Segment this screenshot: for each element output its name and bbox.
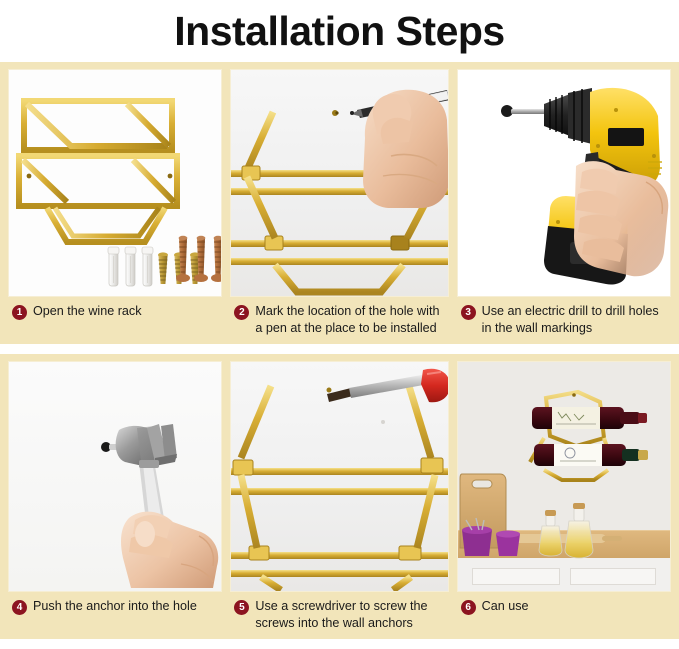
step-number-badge-1: 1 [12,305,27,320]
wine-bottle-top [532,407,647,429]
step-text-6: Can use [482,598,529,615]
marking-hole-with-pen-photo [230,69,448,297]
step-card-6: 6 Can use [457,361,671,639]
step-number-badge-4: 4 [12,600,27,615]
screwdriver-photo [230,361,448,592]
wine-rack-parts-photo [8,69,222,297]
step-text-5: Use a screwdriver to screw the screws in… [255,598,446,631]
hand-illustration [121,512,218,588]
title-bar: Installation Steps [0,0,679,62]
step-caption-4: 4 Push the anchor into the hole [8,592,222,638]
step-text-4: Push the anchor into the hole [33,598,197,615]
step-caption-6: 6 Can use [457,592,671,638]
installation-steps-infographic: Installation Steps [0,0,679,649]
step-number-badge-6: 6 [461,600,476,615]
step-text-3: Use an electric drill to drill holes in … [482,303,669,336]
step-caption-5: 5 Use a screwdriver to screw the screws … [230,592,448,639]
hand-illustration [363,90,448,208]
screwdriver-illustration [231,362,448,591]
electric-drill-photo [457,69,671,297]
step-card-5: 5 Use a screwdriver to screw the screws … [230,361,448,639]
wall-anchors [108,247,153,286]
finished-wine-rack-photo [457,361,671,592]
oil-cruet-right [565,503,593,558]
step-number-badge-2: 2 [234,305,249,320]
step-card-2: 2 Mark the location of the hole with a p… [230,69,448,344]
step-caption-3: 3 Use an electric drill to drill holes i… [457,297,671,344]
large-screws [176,236,222,282]
hammer-anchor-illustration [9,362,222,591]
step-text-2: Mark the location of the hole with a pen… [255,303,446,336]
marking-hole-illustration [231,70,448,296]
step-card-1: 1 Open the wine rack [8,69,222,344]
step-card-3: 3 Use an electric drill to drill holes i… [457,69,671,344]
page-title: Installation Steps [174,8,504,55]
electric-drill-illustration [458,70,671,296]
wine-bottle-bottom [534,444,648,466]
steps-row-top: 1 Open the wine rack [0,62,679,344]
oil-cruet-left [539,510,562,556]
hammer-anchor-photo [8,361,222,592]
finished-rack-illustration [458,362,671,591]
row-divider [0,344,679,354]
steps-row-bottom: 4 Push the anchor into the hole [0,354,679,639]
step-caption-2: 2 Mark the location of the hole with a p… [230,297,448,344]
step-caption-1: 1 Open the wine rack [8,297,222,343]
wine-rack-parts-illustration [9,70,222,296]
step-card-4: 4 Push the anchor into the hole [8,361,222,639]
step-text-1: Open the wine rack [33,303,142,320]
step-number-badge-5: 5 [234,600,249,615]
step-number-badge-3: 3 [461,305,476,320]
